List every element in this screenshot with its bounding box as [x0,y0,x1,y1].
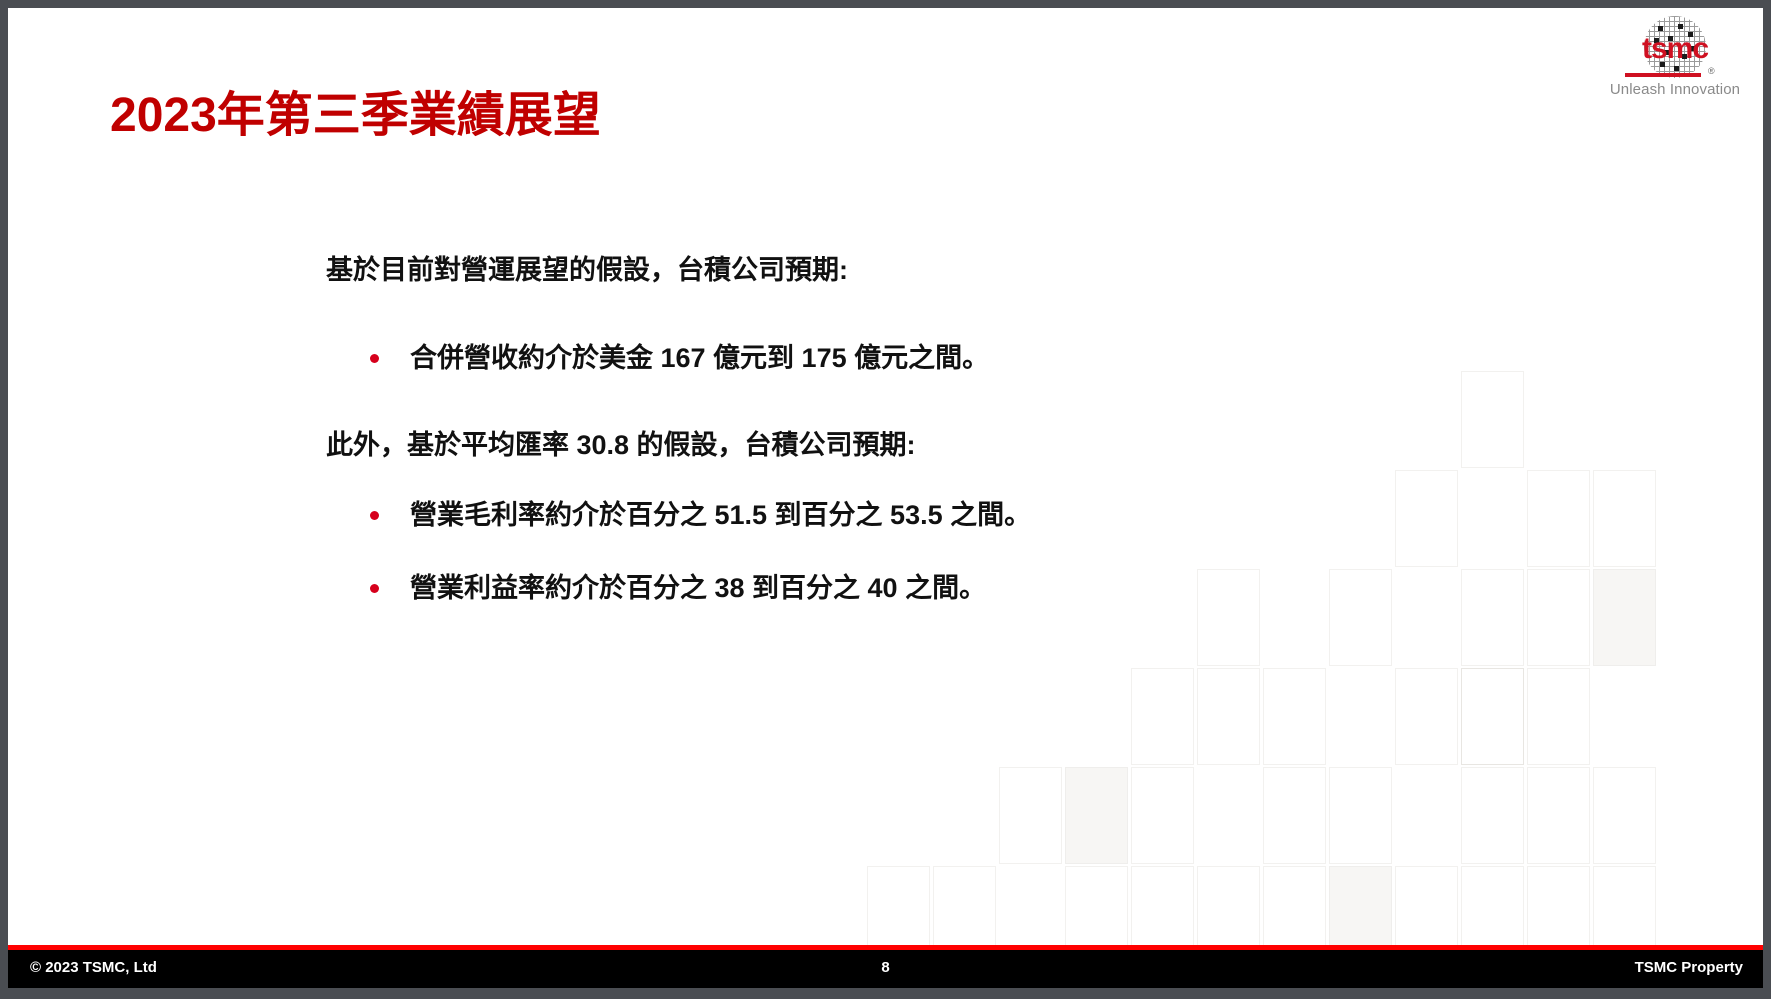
wafer-die-dot [1678,24,1683,29]
bullet-dot-icon [370,584,379,593]
slide-body: 基於目前對營運展望的假設，台積公司預期: 合併營收約介於美金 167 億元到 1… [8,8,1763,948]
list-item-label: 營業毛利率約介於百分之 51.5 到百分之 53.5 之間。 [410,495,1031,535]
list-item: 營業利益率約介於百分之 38 到百分之 40 之間。 [370,568,986,608]
lead-paragraph-1: 基於目前對營運展望的假設，台積公司預期: [326,251,848,289]
wafer-die-dot [1658,26,1663,31]
tsmc-wordmark: tsmc [1612,34,1738,64]
wafer-die-dot [1674,66,1679,71]
tsmc-logo: tsmc ® Unleash Innovation [1605,16,1745,98]
registered-trademark-icon: ® [1708,66,1715,76]
lead-paragraph-2: 此外，基於平均匯率 30.8 的假設，台積公司預期: [326,426,916,464]
bullet-dot-icon [370,511,379,520]
logo-underline-rule [1625,73,1701,77]
slide-frame: tsmc ® Unleash Innovation 2023年第三季業績展望 基… [0,0,1771,999]
list-item: 合併營收約介於美金 167 億元到 175 億元之間。 [370,338,989,378]
page-number: 8 [8,959,1763,976]
list-item-label: 合併營收約介於美金 167 億元到 175 億元之間。 [410,338,989,378]
slide-canvas: tsmc ® Unleash Innovation 2023年第三季業績展望 基… [8,8,1763,988]
tsmc-logo-mark: tsmc ® [1612,16,1738,78]
footer-bar: © 2023 TSMC, Ltd 8 TSMC Property [8,950,1763,988]
property-notice: TSMC Property [1635,959,1743,976]
logo-tagline: Unleash Innovation [1605,81,1745,98]
list-item: 營業毛利率約介於百分之 51.5 到百分之 53.5 之間。 [370,495,1031,535]
bullet-dot-icon [370,354,379,363]
list-item-label: 營業利益率約介於百分之 38 到百分之 40 之間。 [410,568,986,608]
